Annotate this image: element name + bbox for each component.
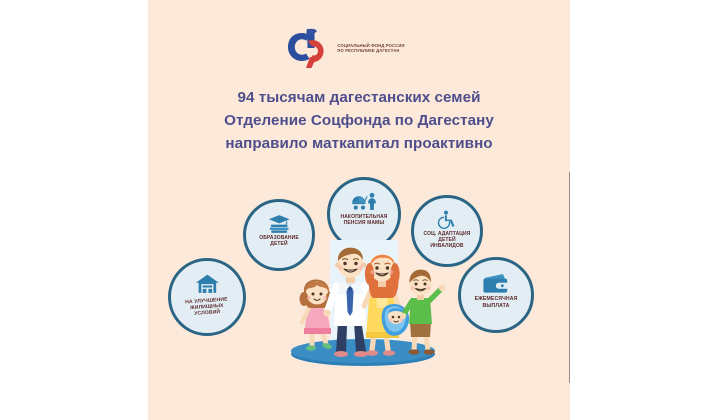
logo-row: СОЦИАЛЬНЫЙ ФОНД РОССИИ ПО РЕСПУБЛИКЕ ДАГ…: [285, 27, 404, 69]
graduation-cap-books-icon: [266, 214, 292, 234]
panel-edge-line: [569, 172, 570, 383]
badge-pension-label-line-2: ПЕНСИЯ МАМЫ: [332, 221, 396, 227]
family-of-five-illustration: [268, 238, 458, 373]
stroller-mother-icon: [350, 192, 377, 212]
headline: 94 тысячам дагестанских семей Отделение …: [148, 86, 570, 155]
headline-line-3: направило маткапитал проактивно: [148, 132, 570, 155]
headline-line-1: 94 тысячам дагестанских семей: [148, 86, 570, 109]
house-icon: [193, 274, 222, 296]
badge-housing-label: НА УЛУЧШЕНИЕ ЖИЛИЩНЫХ УСЛОВИЙ: [173, 296, 242, 319]
sfr-monogram-logo-icon: [285, 27, 329, 69]
wheelchair-icon: [434, 210, 460, 230]
badge-housing: НА УЛУЧШЕНИЕ ЖИЛИЩНЫХ УСЛОВИЙ: [168, 258, 246, 336]
poster-stage: СОЦИАЛЬНЫЙ ФОНД РОССИИ ПО РЕСПУБЛИКЕ ДАГ…: [0, 0, 720, 420]
wallet-icon: [482, 273, 510, 294]
headline-line-2: Отделение Соцфонда по Дагестану: [148, 109, 570, 132]
organization-name: СОЦИАЛЬНЫЙ ФОНД РОССИИ ПО РЕСПУБЛИКЕ ДАГ…: [337, 43, 404, 53]
badge-payment-label-line-2: ВЫПЛАТА: [463, 303, 529, 309]
badge-payment: ЕЖЕМЕСЯЧНАЯ ВЫПЛАТА: [458, 257, 534, 333]
badge-pension-label: НАКОПИТЕЛЬНАЯ ПЕНСИЯ МАМЫ: [332, 215, 396, 227]
badge-payment-label: ЕЖЕМЕСЯЧНАЯ ВЫПЛАТА: [463, 296, 529, 308]
organization-line-2: ПО РЕСПУБЛИКЕ ДАГЕСТАН: [337, 48, 404, 53]
header: СОЦИАЛЬНЫЙ ФОНД РОССИИ ПО РЕСПУБЛИКЕ ДАГ…: [148, 22, 570, 74]
